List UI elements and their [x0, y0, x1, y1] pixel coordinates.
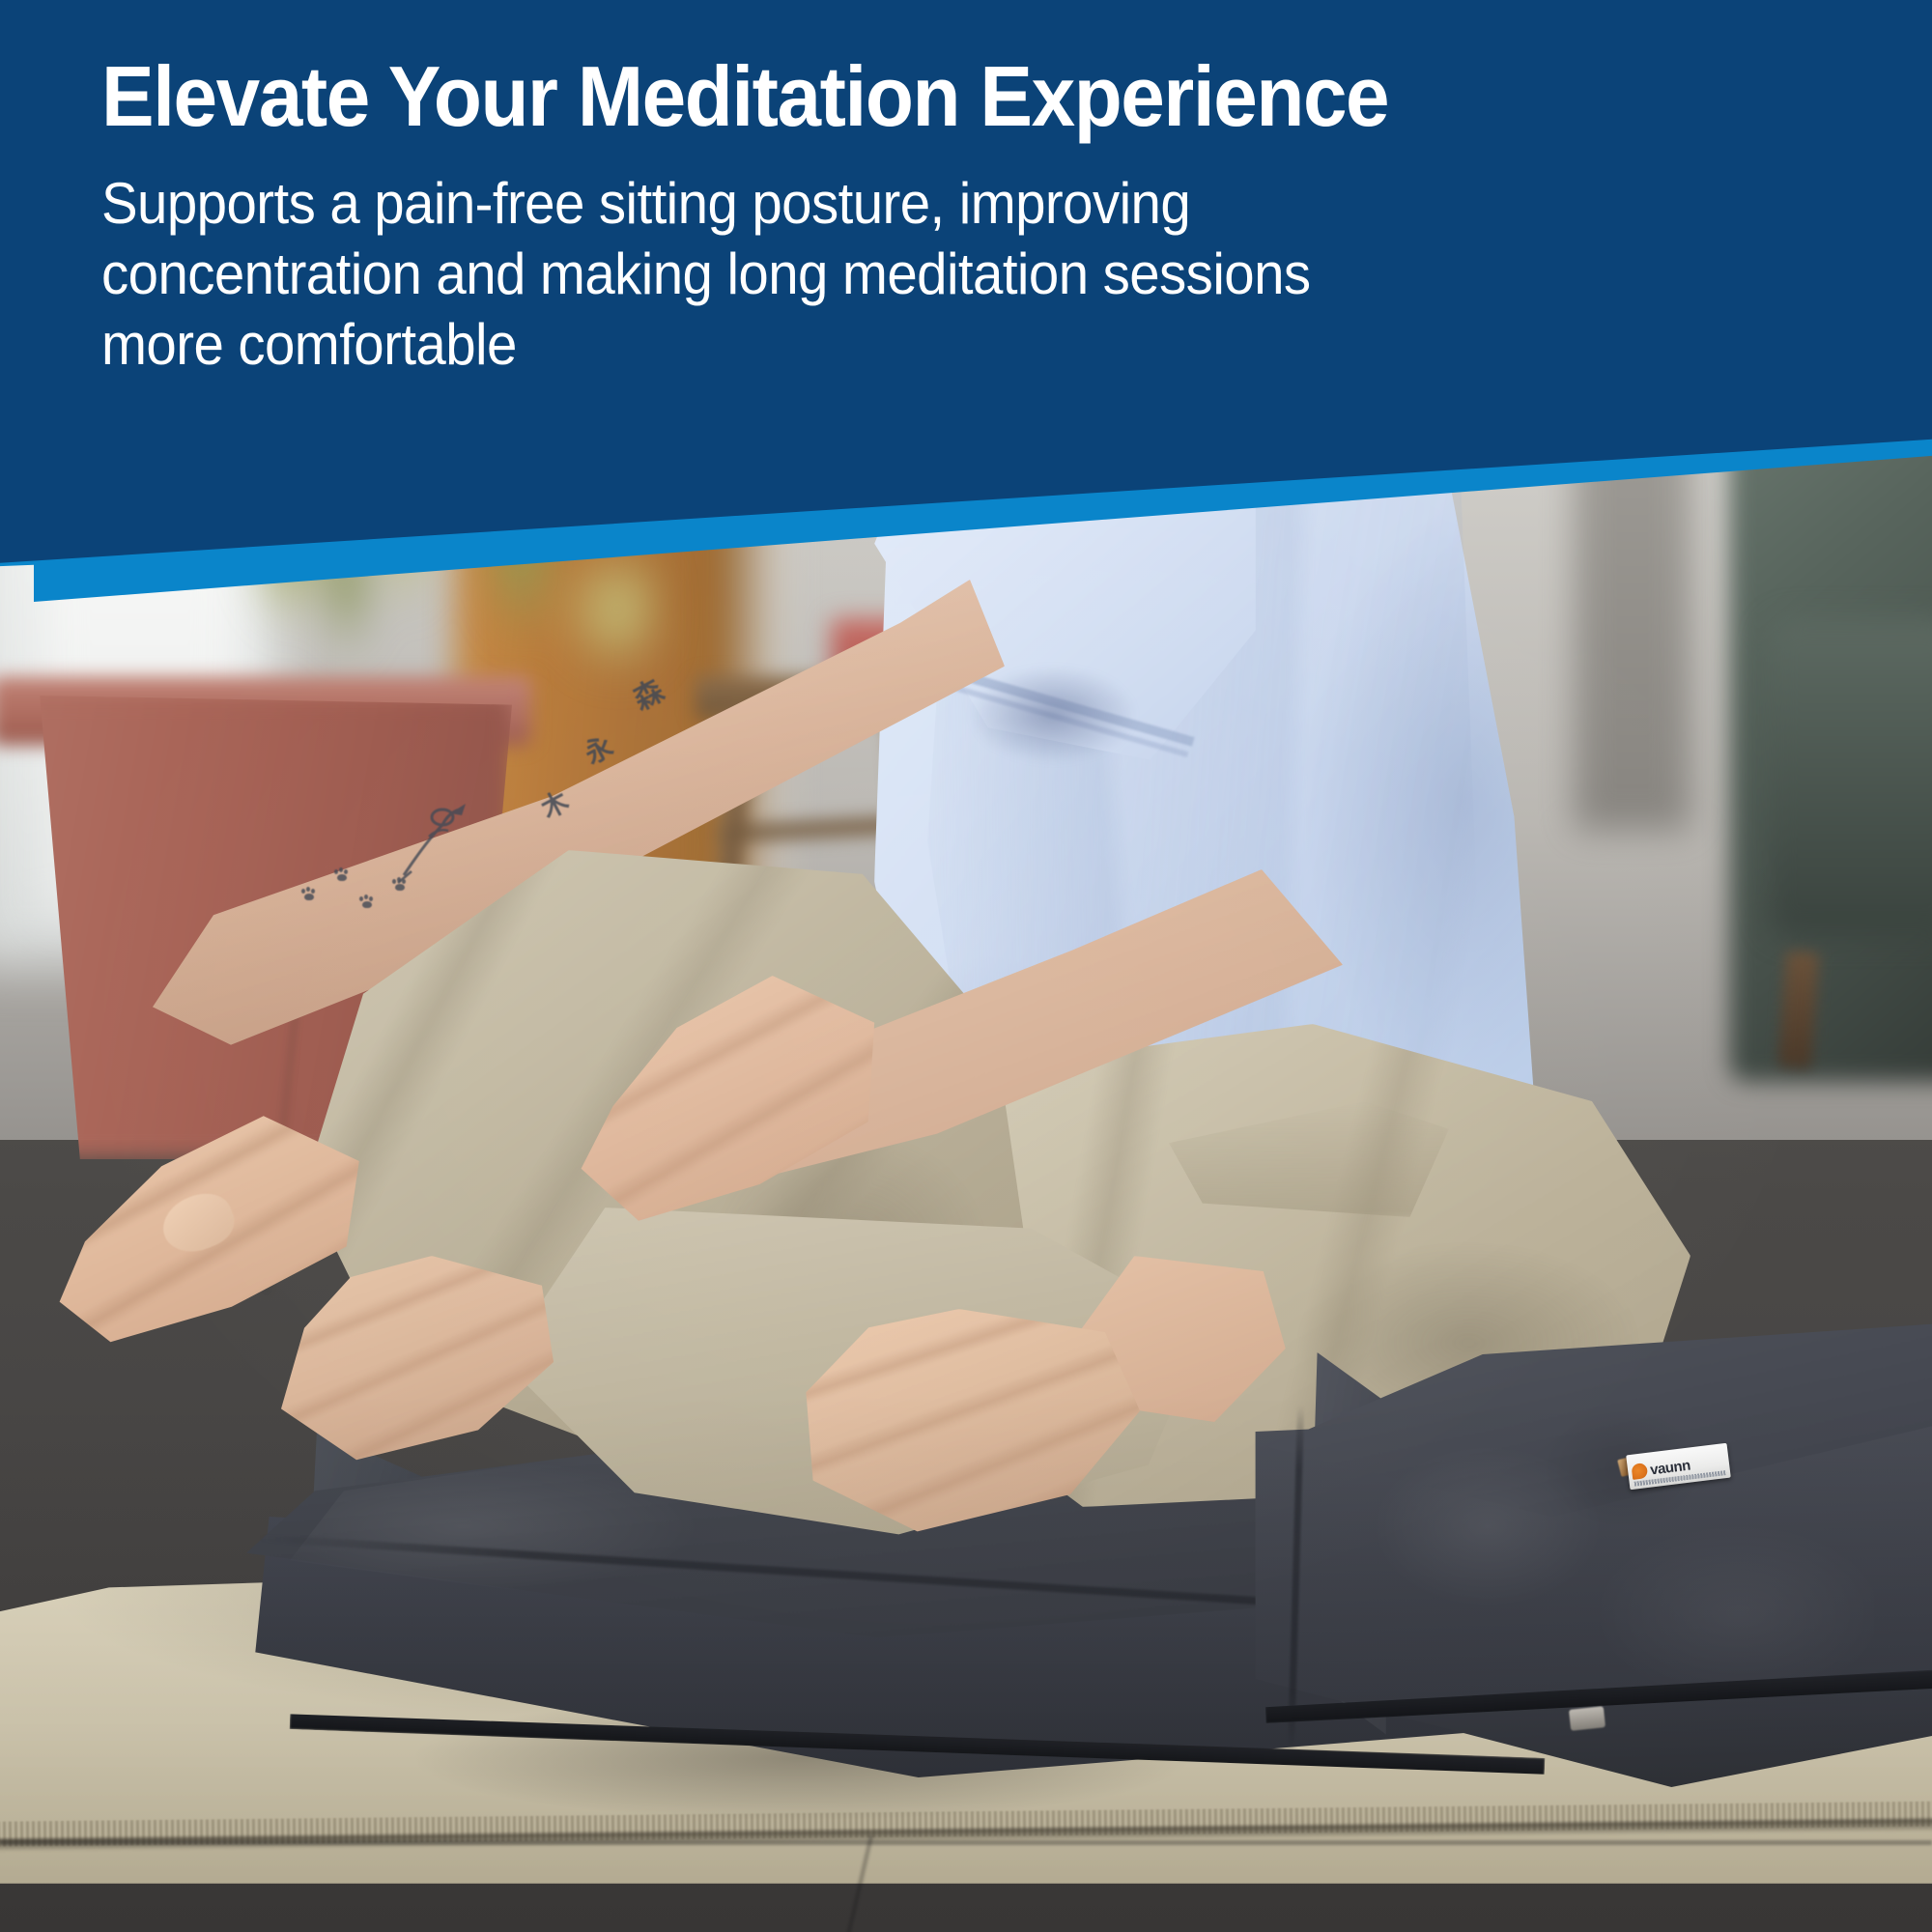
brand-tag-label: vaunn	[1649, 1458, 1690, 1477]
cushion-zipper-pull	[1569, 1706, 1605, 1731]
page-subtitle: Supports a pain-free sitting posture, im…	[101, 168, 1391, 381]
banner-text-block: Elevate Your Meditation Experience Suppo…	[0, 0, 1932, 541]
product-lifestyle-banner: 森 永 木	[0, 0, 1932, 1932]
sleeve-shadow	[966, 667, 1179, 792]
brand-logo-icon	[1631, 1463, 1648, 1480]
sofa-armrest	[1768, 618, 1932, 937]
floor-grout-line	[0, 1840, 1932, 1845]
page-title: Elevate Your Meditation Experience	[101, 53, 1804, 141]
tattoo-paw-prints-icon	[299, 855, 425, 932]
